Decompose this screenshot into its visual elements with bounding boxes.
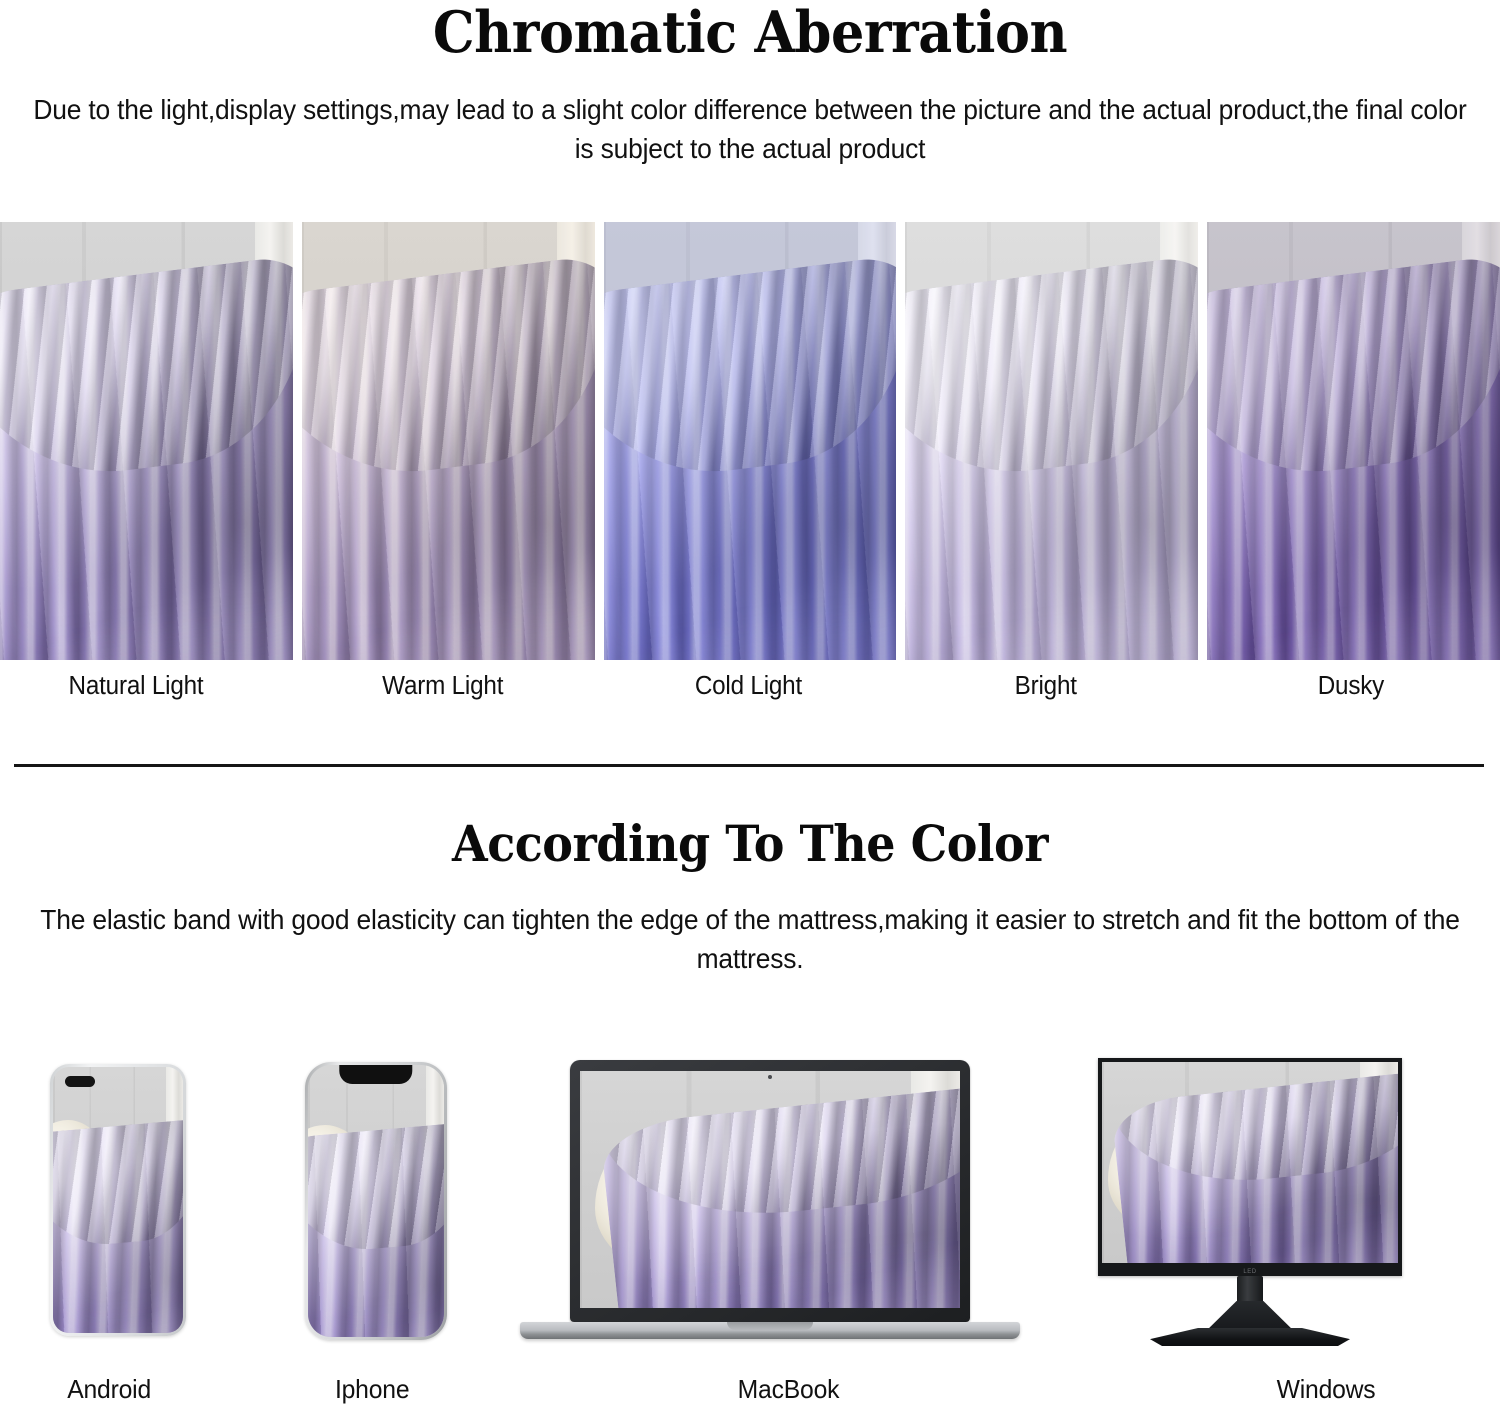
monitor-stand-base — [1150, 1328, 1350, 1346]
blanket-photo-warm-light — [302, 222, 595, 660]
blanket-photo-android — [53, 1067, 183, 1333]
ribbed-throw-blanket — [604, 253, 897, 660]
blanket-photo-iphone — [308, 1065, 444, 1337]
device-label-windows: Windows — [1277, 1374, 1376, 1405]
blanket-photo-cold-light — [604, 222, 897, 660]
monitor-screen — [1102, 1062, 1398, 1263]
macbook-lid — [570, 1060, 970, 1322]
ribbed-throw-blanket — [308, 1122, 444, 1337]
subtitle-chromatic-aberration: Due to the light,display settings,may le… — [30, 64, 1470, 168]
android-phone-frame — [50, 1064, 186, 1336]
blanket-photo-bright — [905, 222, 1198, 660]
iphone-screen — [308, 1065, 444, 1337]
iphone-frame — [305, 1062, 447, 1340]
light-panel-dusky — [1207, 222, 1500, 660]
device-mockup-iphone — [305, 1062, 447, 1340]
light-variant-panel-row — [0, 222, 1500, 660]
light-panel-warm-light — [302, 222, 595, 660]
device-label-macbook: MacBook — [738, 1374, 840, 1405]
macbook-trackpad-notch — [727, 1322, 813, 1330]
light-panel-label-natural-light: Natural Light — [69, 672, 204, 701]
page-title-chromatic-aberration: Chromatic Aberration — [60, 0, 1440, 64]
macbook-base — [520, 1322, 1020, 1339]
device-mockup-android — [50, 1064, 186, 1336]
device-label-iphone: Iphone — [335, 1374, 409, 1405]
macbook-screen — [580, 1071, 960, 1308]
blanket-photo-macbook — [580, 1071, 960, 1308]
ribbed-throw-blanket — [905, 253, 1198, 660]
ribbed-throw-blanket — [53, 1118, 183, 1333]
light-panel-label-cold-light: Cold Light — [695, 672, 802, 701]
ribbed-throw-blanket — [1207, 253, 1500, 660]
light-panel-natural-light — [0, 222, 293, 660]
light-panel-label-warm-light: Warm Light — [382, 672, 503, 701]
android-camera-cutout-icon — [65, 1076, 95, 1087]
light-panel-label-bright: Bright — [1015, 672, 1077, 701]
device-label-android: Android — [67, 1374, 151, 1405]
page-title-according-to-the-color: According To The Color — [60, 816, 1440, 872]
monitor-brand-mark: LED — [1243, 1269, 1256, 1275]
light-panel-cold-light — [604, 222, 897, 660]
section-divider — [14, 764, 1484, 767]
android-phone-screen — [53, 1067, 183, 1333]
monitor-bezel: LED — [1098, 1058, 1402, 1276]
device-mockup-row: LED — [0, 1050, 1500, 1350]
iphone-notch-icon — [339, 1065, 412, 1084]
light-panel-bright — [905, 222, 1198, 660]
ribbed-throw-blanket — [302, 253, 595, 660]
blanket-photo-natural-light — [0, 222, 293, 660]
subtitle-according-to-the-color: The elastic band with good elasticity ca… — [30, 872, 1470, 978]
ribbed-throw-blanket — [0, 253, 293, 660]
macbook-camera-icon — [768, 1075, 772, 1079]
device-mockup-windows-monitor: LED — [1090, 1058, 1410, 1350]
light-panel-label-dusky: Dusky — [1318, 672, 1384, 701]
device-mockup-macbook — [520, 1060, 1020, 1350]
blanket-photo-windows — [1102, 1062, 1398, 1263]
ribbed-throw-blanket — [1110, 1069, 1398, 1263]
blanket-photo-dusky — [1207, 222, 1500, 660]
